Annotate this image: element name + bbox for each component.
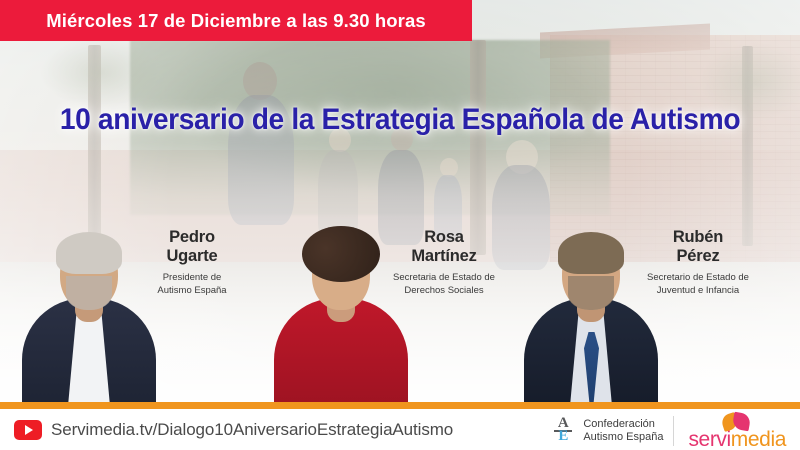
monogram-letter-e: E: [550, 429, 576, 444]
accent-bar: [0, 402, 800, 409]
autismo-monogram-icon: A E: [550, 416, 576, 446]
page-title: 10 aniversario de la Estrategia Española…: [24, 103, 776, 137]
servimedia-word-part2: media: [731, 428, 786, 450]
speaker-card-pedro-ugarte: Pedro Ugarte Presidente de Autismo Españ…: [14, 196, 264, 406]
speaker-first-name: Rubén: [638, 228, 758, 247]
logo-confederacion-autismo-espana: A E Confederación Autismo España: [550, 416, 674, 446]
speaker-role-line1: Secretario de Estado de: [623, 272, 773, 285]
logo-group: A E Confederación Autismo España servime…: [550, 414, 792, 448]
event-promo-poster: Miércoles 17 de Diciembre a las 9.30 hor…: [0, 0, 800, 450]
speaker-first-name: Pedro: [132, 228, 252, 247]
stream-url-text: Servimedia.tv/Dialogo10AniversarioEstrat…: [51, 420, 453, 440]
speaker-first-name: Rosa: [384, 228, 504, 247]
speaker-card-ruben-perez: Rubén Pérez Secretario de Estado de Juve…: [516, 196, 784, 406]
speaker-last-name: Ugarte: [132, 247, 252, 266]
autismo-name-line1: Confederación: [583, 418, 663, 431]
servimedia-wordmark: servimedia: [688, 429, 786, 450]
portrait-hair: [558, 232, 624, 274]
portrait-beard: [568, 276, 614, 310]
stream-link[interactable]: Servimedia.tv/Dialogo10AniversarioEstrat…: [14, 420, 453, 440]
autismo-name-line2: Autismo España: [583, 431, 663, 444]
autismo-logo-text: Confederación Autismo España: [583, 418, 663, 444]
date-banner: Miércoles 17 de Diciembre a las 9.30 hor…: [0, 0, 472, 41]
footer: Servimedia.tv/Dialogo10AniversarioEstrat…: [0, 409, 800, 450]
speaker-last-name: Pérez: [638, 247, 758, 266]
portrait-beard: [66, 276, 112, 310]
speaker-role-line2: Juventud e Infancia: [623, 285, 773, 298]
speaker-role-line2: Derechos Sociales: [369, 285, 519, 298]
speaker-info: Rosa Martínez Secretaria de Estado de De…: [384, 228, 504, 297]
speaker-info: Rubén Pérez Secretario de Estado de Juve…: [638, 228, 758, 297]
speaker-card-rosa-martinez: Rosa Martínez Secretaria de Estado de De…: [266, 196, 516, 406]
date-banner-text: Miércoles 17 de Diciembre a las 9.30 hor…: [46, 10, 426, 32]
heart-icon: [720, 413, 754, 430]
logo-servimedia: servimedia: [684, 413, 792, 450]
portrait-hair: [56, 232, 122, 274]
speakers-row: Pedro Ugarte Presidente de Autismo Españ…: [0, 196, 800, 406]
speaker-role-line2: Autismo España: [132, 285, 252, 298]
speaker-last-name: Martínez: [384, 247, 504, 266]
speaker-info: Pedro Ugarte Presidente de Autismo Españ…: [132, 228, 252, 297]
speaker-role-line1: Presidente de: [132, 272, 252, 285]
speaker-role-line1: Secretaria de Estado de: [369, 272, 519, 285]
heart-right-lobe: [732, 411, 752, 431]
youtube-icon: [14, 420, 42, 440]
